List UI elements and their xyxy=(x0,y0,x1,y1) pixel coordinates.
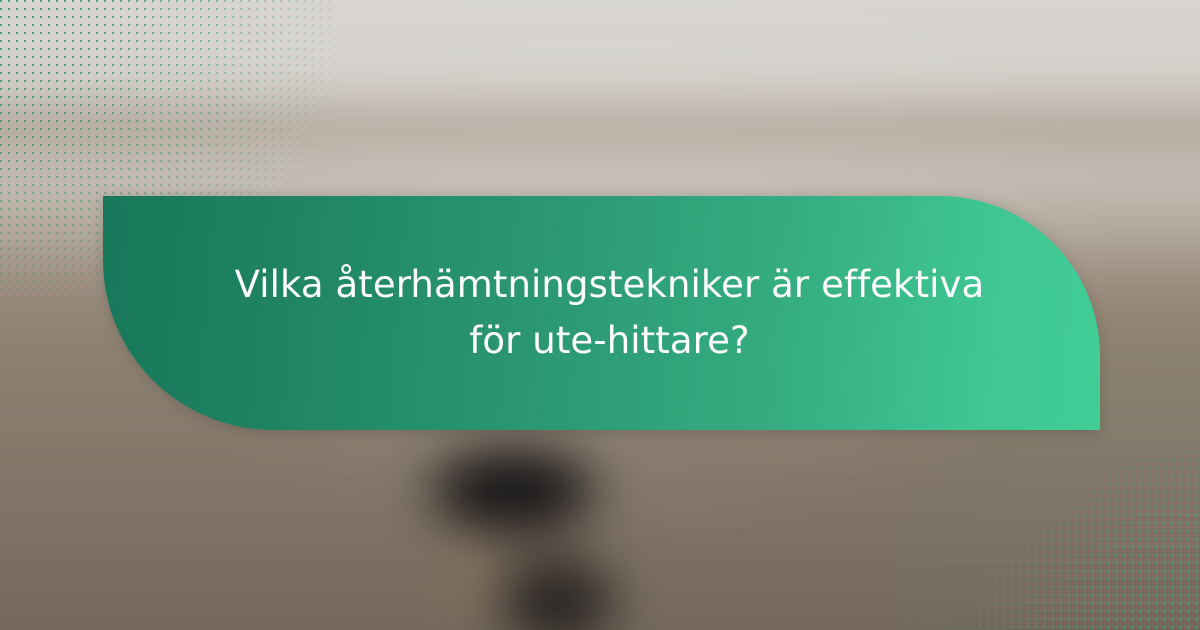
social-share-card: Vilka återhämtningstekniker är effektiva… xyxy=(0,0,1200,630)
page-title: Vilka återhämtningstekniker är effektiva… xyxy=(223,257,996,369)
headline-banner: Vilka återhämtningstekniker är effektiva… xyxy=(103,196,1100,430)
